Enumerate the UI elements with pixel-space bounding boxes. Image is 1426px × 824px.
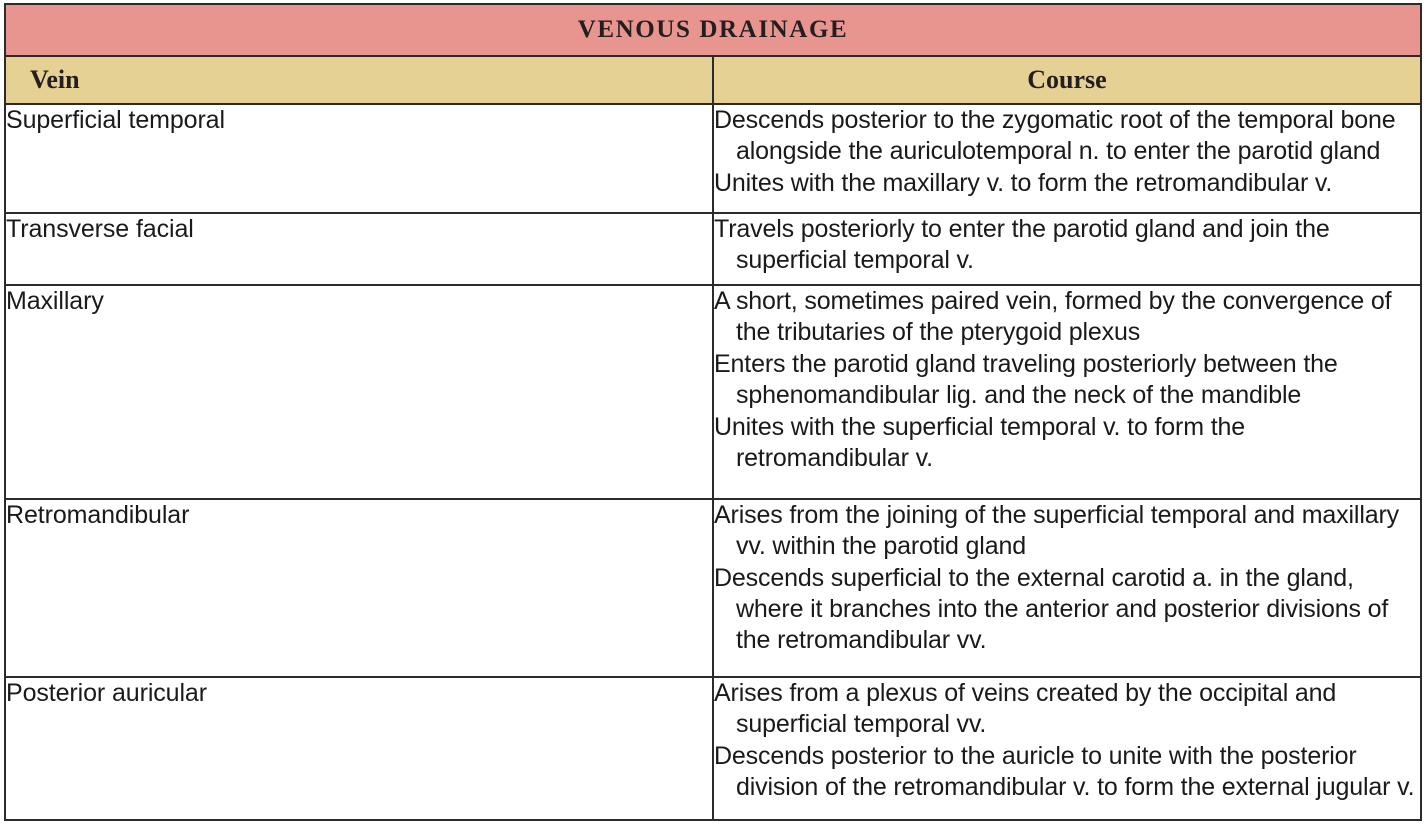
vein-name: Retromandibular	[6, 501, 189, 529]
course-item: Descends superficial to the external car…	[714, 563, 1420, 656]
vein-cell: Posterior auricular	[5, 677, 713, 820]
venous-drainage-table-container: VENOUS DRAINAGE Vein Course Superficial …	[0, 0, 1426, 824]
table-row: Transverse facialTravels posteriorly to …	[5, 213, 1421, 286]
course-cell: Travels posteriorly to enter the parotid…	[713, 213, 1421, 286]
course-cell: Descends posterior to the zygomatic root…	[713, 104, 1421, 213]
page-title: VENOUS DRAINAGE	[6, 5, 1420, 55]
vein-name: Transverse facial	[6, 215, 194, 243]
course-item: Descends posterior to the zygomatic root…	[714, 105, 1420, 167]
course-list: A short, sometimes paired vein, formed b…	[714, 286, 1420, 474]
vein-name: Superficial temporal	[6, 106, 225, 134]
vein-name: Posterior auricular	[6, 679, 207, 707]
column-header-course: Course	[713, 56, 1421, 104]
column-header-vein-label: Vein	[6, 65, 712, 95]
vein-cell: Maxillary	[5, 285, 713, 499]
course-cell: Arises from a plexus of veins created by…	[713, 677, 1421, 820]
vein-cell: Superficial temporal	[5, 104, 713, 213]
course-item: Descends posterior to the auricle to uni…	[714, 741, 1420, 803]
course-list: Descends posterior to the zygomatic root…	[714, 105, 1420, 199]
course-cell: A short, sometimes paired vein, formed b…	[713, 285, 1421, 499]
table-row: Superficial temporalDescends posterior t…	[5, 104, 1421, 213]
course-item: Arises from the joining of the superfici…	[714, 500, 1420, 562]
course-item: Travels posteriorly to enter the parotid…	[714, 214, 1420, 276]
course-item: Enters the parotid gland traveling poste…	[714, 349, 1420, 411]
table-title-row: VENOUS DRAINAGE	[5, 4, 1421, 56]
table-title-cell: VENOUS DRAINAGE	[5, 4, 1421, 56]
vein-cell: Retromandibular	[5, 499, 713, 677]
course-item: A short, sometimes paired vein, formed b…	[714, 286, 1420, 348]
course-list: Travels posteriorly to enter the parotid…	[714, 214, 1420, 276]
column-header-course-label: Course	[714, 65, 1420, 95]
vein-name: Maxillary	[6, 287, 104, 315]
course-item: Arises from a plexus of veins created by…	[714, 678, 1420, 740]
course-item: Unites with the maxillary v. to form the…	[714, 168, 1420, 199]
vein-cell: Transverse facial	[5, 213, 713, 286]
course-cell: Arises from the joining of the superfici…	[713, 499, 1421, 677]
course-list: Arises from a plexus of veins created by…	[714, 678, 1420, 803]
venous-drainage-table: VENOUS DRAINAGE Vein Course Superficial …	[4, 3, 1422, 821]
course-item: Unites with the superficial temporal v. …	[714, 412, 1420, 474]
course-list: Arises from the joining of the superfici…	[714, 500, 1420, 656]
table-row: RetromandibularArises from the joining o…	[5, 499, 1421, 677]
table-row: MaxillaryA short, sometimes paired vein,…	[5, 285, 1421, 499]
table-body: Superficial temporalDescends posterior t…	[5, 104, 1421, 820]
table-row: Posterior auricularArises from a plexus …	[5, 677, 1421, 820]
table-head: VENOUS DRAINAGE Vein Course	[5, 4, 1421, 104]
column-header-vein: Vein	[5, 56, 713, 104]
column-header-row: Vein Course	[5, 56, 1421, 104]
